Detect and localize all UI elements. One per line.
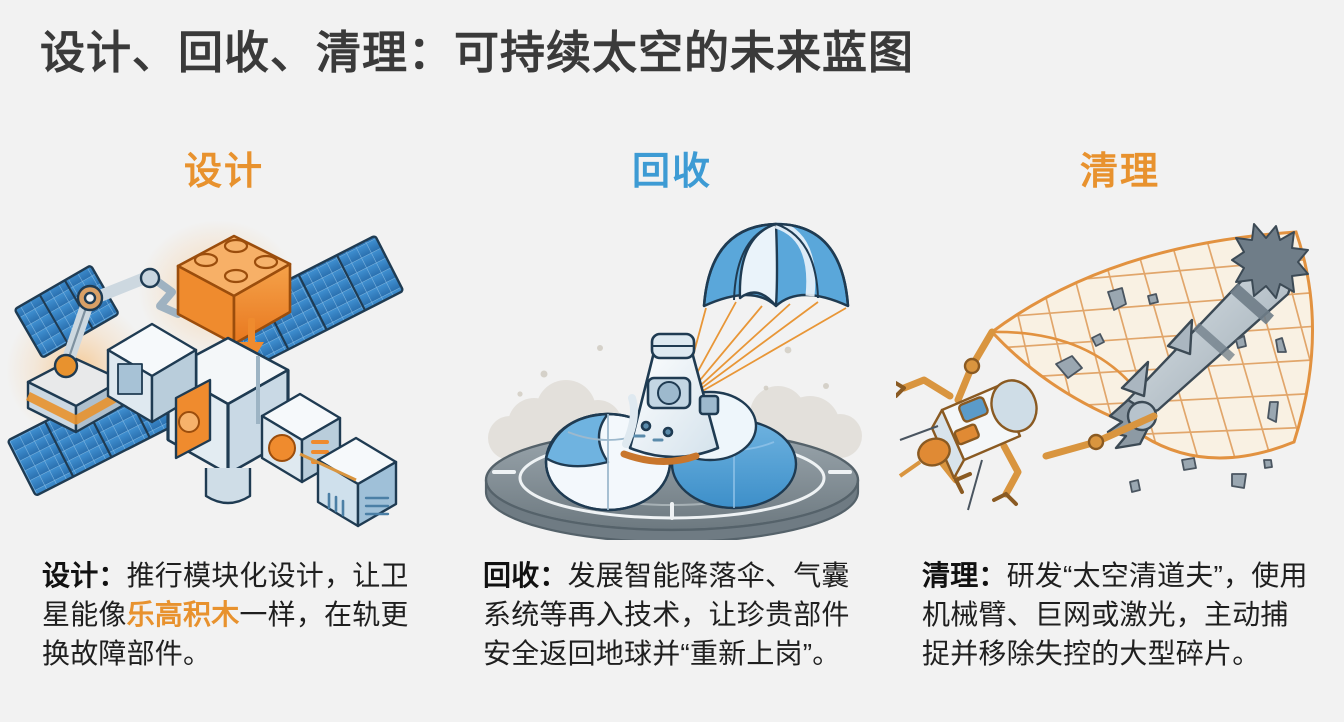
shroud-lines [680, 302, 846, 404]
column-cleanup: 清理 [896, 132, 1344, 722]
column-recovery: 回收 [448, 132, 896, 722]
caption-lead-design: 设计： [42, 560, 127, 591]
infographic-poster: 设计、回收、清理：可持续太空的未来蓝图 设计 [0, 0, 1344, 722]
modular-satellite-illustration [0, 210, 448, 540]
caption-recovery: 回收：发展智能降落伞、气囊系统等再入技术，让珍贵部件安全返回地球并“重新上岗”。 [483, 556, 873, 673]
caption-design: 设计：推行模块化设计，让卫星能像乐高积木一样，在轨更换故障部件。 [42, 556, 434, 673]
parachute [704, 224, 848, 306]
caption-lead-cleanup: 清理： [922, 560, 1007, 591]
column-heading-recovery: 回收 [448, 146, 896, 198]
columns-container: 设计 [0, 132, 1344, 722]
caption-lead-recovery: 回收： [483, 560, 568, 591]
column-heading-cleanup: 清理 [896, 146, 1344, 198]
reentry-capsule-illustration [448, 210, 896, 540]
capsule [624, 334, 718, 462]
page-title: 设计、回收、清理：可持续太空的未来蓝图 [40, 22, 914, 84]
debris-capture-illustration [896, 210, 1344, 540]
column-heading-design: 设计 [0, 146, 448, 198]
column-design: 设计 [0, 132, 448, 722]
caption-cleanup: 清理：研发“太空清道夫”，使用机械臂、巨网或激光，主动捕捉并移除失控的大型碎片。 [922, 556, 1316, 673]
caption-highlight-design: 乐高积木 [127, 599, 240, 630]
